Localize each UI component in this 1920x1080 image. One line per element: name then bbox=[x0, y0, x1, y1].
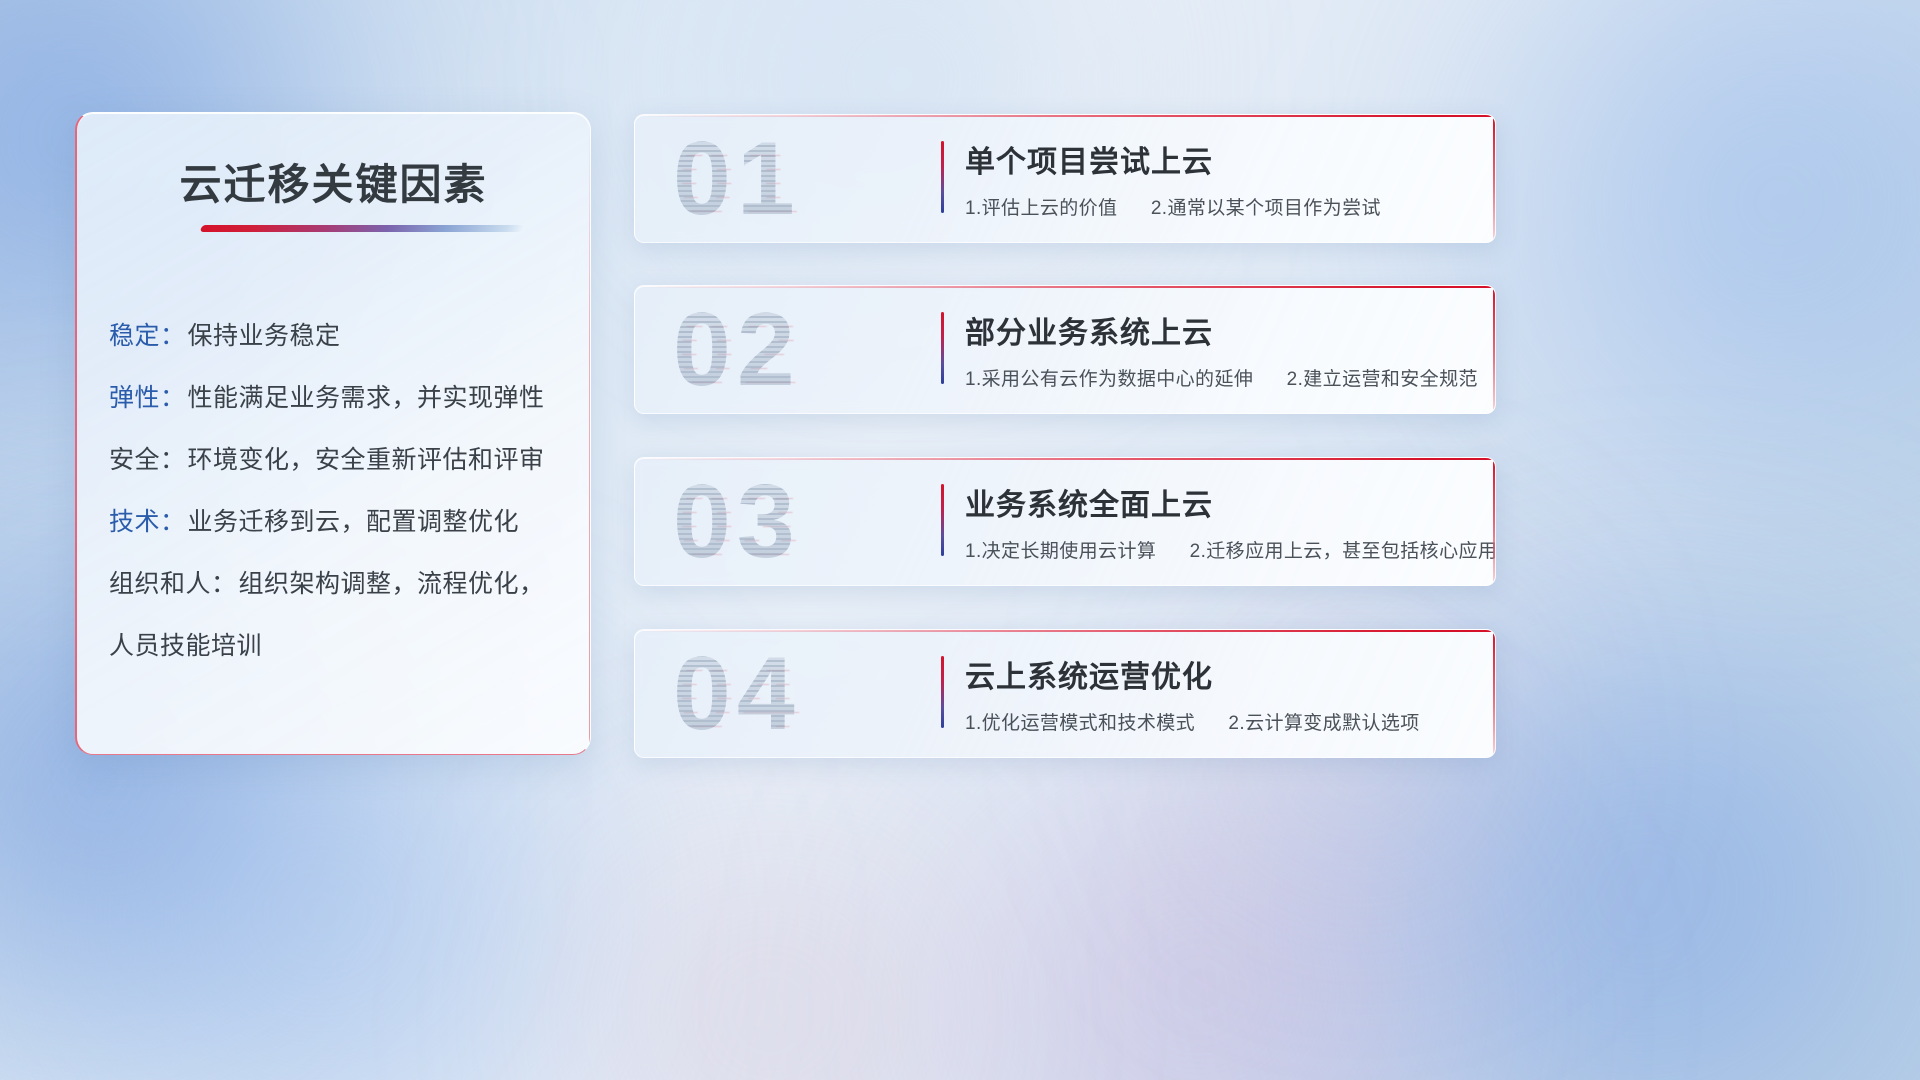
stage-card-03[interactable]: 03 03 业务系统全面上云 1.决定长期使用云计算 2.迁移应用上云，甚至包括… bbox=[634, 457, 1496, 586]
factor-label: 稳定： bbox=[109, 316, 186, 352]
stage-heading: 云上系统运营优化 bbox=[965, 652, 1213, 696]
list-item: 安全： 环境变化，安全重新评估和评审 bbox=[109, 427, 572, 489]
page-title: 云迁移关键因素 bbox=[77, 151, 590, 212]
factor-label: 安全： bbox=[109, 440, 186, 476]
stage-point-2: 2.建立运营和安全规范 bbox=[1287, 369, 1478, 390]
stage-number: 03 bbox=[673, 468, 863, 576]
stage-divider-bar bbox=[941, 656, 944, 728]
stage-divider-bar bbox=[941, 312, 944, 384]
stage-point-2: 2.云计算变成默认选项 bbox=[1228, 713, 1419, 734]
stage-number: 02 bbox=[673, 296, 863, 404]
stage-number: 01 bbox=[673, 125, 863, 233]
factor-value: 人员技能培训 bbox=[109, 626, 262, 662]
key-factors-panel: 云迁移关键因素 稳定： 保持业务稳定 弹性： 性能满足业务需求，并实现弹性 安全… bbox=[75, 112, 591, 755]
stage-heading: 单个项目尝试上云 bbox=[965, 137, 1213, 181]
stage-card-02[interactable]: 02 02 部分业务系统上云 1.采用公有云作为数据中心的延伸 2.建立运营和安… bbox=[634, 285, 1496, 414]
list-item: 组织和人： 组织架构调整，流程优化， bbox=[109, 551, 572, 613]
stage-number: 04 bbox=[673, 640, 863, 748]
list-item-continuation: 人员技能培训 bbox=[109, 613, 572, 675]
list-item: 技术： 业务迁移到云，配置调整优化 bbox=[109, 489, 572, 551]
stage-card-04[interactable]: 04 04 云上系统运营优化 1.优化运营模式和技术模式 2.云计算变成默认选项 bbox=[634, 629, 1496, 758]
stage-point-2: 2.迁移应用上云，甚至包括核心应用 bbox=[1190, 541, 1496, 562]
stage-points: 1.决定长期使用云计算 2.迁移应用上云，甚至包括核心应用 bbox=[965, 536, 1496, 563]
stage-point-1: 1.优化运营模式和技术模式 bbox=[965, 713, 1195, 734]
list-item: 弹性： 性能满足业务需求，并实现弹性 bbox=[109, 365, 572, 427]
key-factors-list: 稳定： 保持业务稳定 弹性： 性能满足业务需求，并实现弹性 安全： 环境变化，安… bbox=[109, 303, 572, 675]
stage-points: 1.优化运营模式和技术模式 2.云计算变成默认选项 bbox=[965, 708, 1420, 735]
title-underline-accent bbox=[200, 225, 525, 232]
stage-points: 1.采用公有云作为数据中心的延伸 2.建立运营和安全规范 bbox=[965, 364, 1478, 391]
stage-heading: 业务系统全面上云 bbox=[965, 480, 1213, 524]
stage-point-1: 1.评估上云的价值 bbox=[965, 198, 1117, 219]
factor-label: 技术： bbox=[109, 502, 186, 538]
stage-point-1: 1.决定长期使用云计算 bbox=[965, 541, 1156, 562]
stage-divider-bar bbox=[941, 141, 944, 213]
factor-value: 保持业务稳定 bbox=[188, 316, 341, 352]
stage-points: 1.评估上云的价值 2.通常以某个项目作为尝试 bbox=[965, 193, 1381, 220]
stage-card-01[interactable]: 01 01 单个项目尝试上云 1.评估上云的价值 2.通常以某个项目作为尝试 bbox=[634, 114, 1496, 243]
factor-value: 业务迁移到云，配置调整优化 bbox=[188, 502, 520, 538]
factor-label: 组织和人： bbox=[109, 564, 237, 600]
factor-value: 组织架构调整，流程优化， bbox=[239, 564, 545, 600]
slide-stage: 云迁移关键因素 稳定： 保持业务稳定 弹性： 性能满足业务需求，并实现弹性 安全… bbox=[0, 0, 1920, 1080]
factor-value: 性能满足业务需求，并实现弹性 bbox=[188, 378, 545, 414]
list-item: 稳定： 保持业务稳定 bbox=[109, 303, 572, 365]
stage-point-1: 1.采用公有云作为数据中心的延伸 bbox=[965, 369, 1253, 390]
stage-heading: 部分业务系统上云 bbox=[965, 308, 1213, 352]
stage-point-2: 2.通常以某个项目作为尝试 bbox=[1151, 198, 1381, 219]
stage-divider-bar bbox=[941, 484, 944, 556]
factor-value: 环境变化，安全重新评估和评审 bbox=[188, 440, 545, 476]
factor-label: 弹性： bbox=[109, 378, 186, 414]
